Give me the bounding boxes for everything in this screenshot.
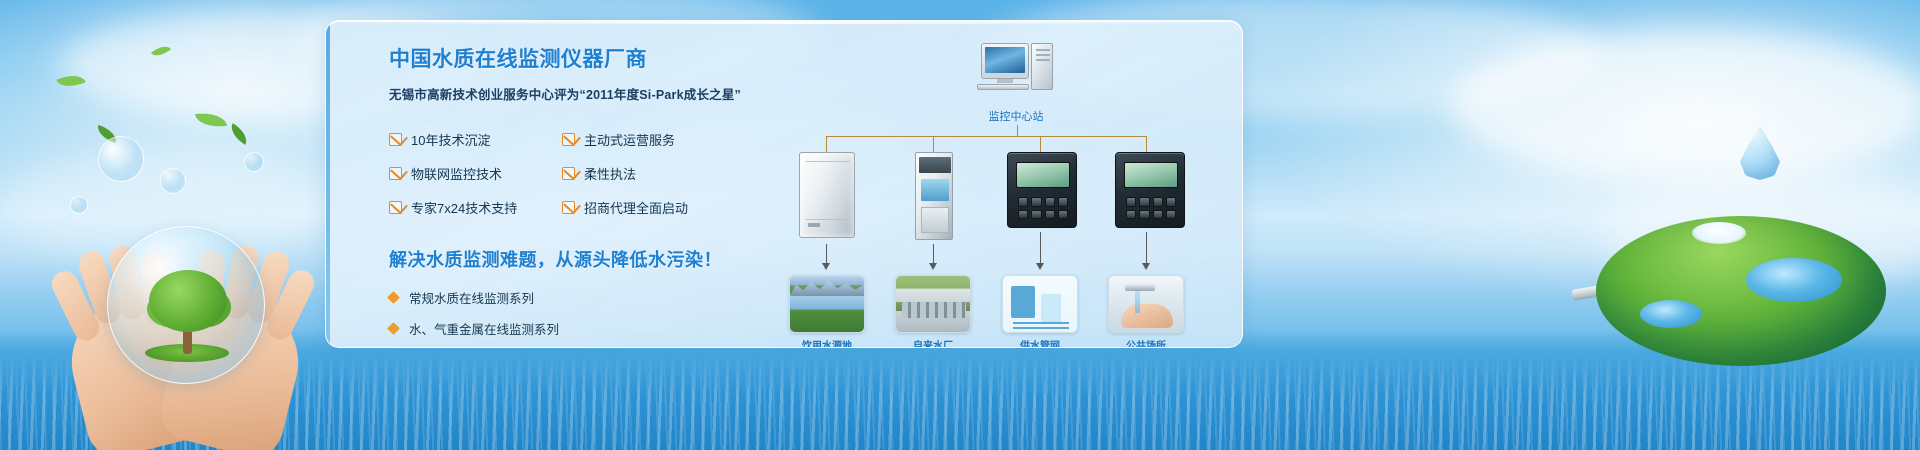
water-droplet-icon	[1740, 126, 1780, 180]
connector-drop	[1146, 136, 1147, 152]
earth-body	[1596, 216, 1886, 366]
page-subtitle: 无锡市高新技术创业服务中心评为“2011年度Si-Park成长之星”	[389, 84, 749, 103]
bubble-decor	[70, 196, 88, 214]
checklist-item-label: 柔性执法	[584, 164, 636, 183]
checklist-item[interactable]: 招商代理全面启动	[562, 198, 732, 217]
checkbox-icon	[562, 133, 575, 146]
monitoring-topology-diagram: 监控中心站	[781, 39, 1226, 339]
monitoring-center-computer	[981, 43, 1053, 91]
panel-left-edge	[326, 21, 330, 347]
cabinet-body	[799, 152, 855, 238]
checkbox-icon	[562, 167, 575, 180]
panel-text-column: 中国水质在线监测仪器厂商 无锡市高新技术创业服务中心评为“2011年度Si-Pa…	[389, 43, 749, 348]
product-series-list: 常规水质在线监测系列 水、气重金属在线监测系列 CEMS、TVOCs、PM2.5…	[389, 288, 749, 348]
section-title: 解决水质监测难题，从源头降低水污染！	[389, 246, 749, 272]
arrow-down-icon	[1142, 263, 1150, 270]
checklist-item[interactable]: 专家7x24技术支持	[389, 198, 554, 217]
checkbox-icon	[389, 167, 402, 180]
tree-icon	[149, 270, 227, 332]
checklist-item-label: 10年技术沉淀	[411, 130, 490, 149]
leaf-icon	[56, 69, 85, 92]
bubble-decor	[244, 152, 264, 172]
device-panel-controller-1	[1007, 152, 1077, 228]
checkbox-icon	[562, 201, 575, 214]
arrow-down-icon	[1036, 263, 1044, 270]
checklist-item-label: 主动式运营服务	[584, 130, 675, 149]
monitor-stand	[997, 79, 1013, 83]
controller-body	[1007, 152, 1077, 228]
leaf-icon	[226, 123, 251, 145]
controller-screen	[1124, 162, 1178, 188]
connector-stem	[1017, 125, 1018, 136]
bubble-decor	[160, 168, 186, 194]
checkbox-icon	[389, 133, 402, 146]
leaf-icon	[195, 110, 227, 130]
node-caption: 饮用水源地	[777, 337, 877, 348]
banner-panel: 中国水质在线监测仪器厂商 无锡市高新技术创业服务中心评为“2011年度Si-Pa…	[325, 20, 1243, 348]
pc-tower-icon	[1031, 43, 1053, 90]
device-cabinet-analyzer	[799, 152, 855, 238]
connector-drop	[826, 136, 827, 152]
node-caption: 供水管网	[990, 337, 1090, 348]
rack-window	[921, 179, 949, 201]
checkbox-icon	[389, 201, 402, 214]
green-earth-illustration	[1596, 216, 1886, 362]
node-photo-water-source[interactable]	[789, 275, 865, 333]
checklist-item[interactable]: 物联网监控技术	[389, 164, 554, 183]
node-photo-public-place[interactable]	[1108, 275, 1184, 333]
list-item[interactable]: 水、气重金属在线监测系列	[389, 319, 749, 338]
bubble-decor	[98, 136, 144, 182]
hands-holding-globe-illustration	[75, 220, 295, 450]
checklist-item-label: 物联网监控技术	[411, 164, 502, 183]
checklist-item[interactable]: 主动式运营服务	[562, 130, 732, 149]
monitoring-center-label: 监控中心站	[941, 108, 1091, 124]
list-item-label: 水、气重金属在线监测系列	[409, 319, 559, 338]
monitor-screen	[985, 47, 1025, 73]
connector-bus	[826, 136, 1146, 137]
device-rack-analyzer	[915, 152, 953, 240]
leaf-icon	[151, 41, 171, 60]
page-title: 中国水质在线监测仪器厂商	[389, 43, 749, 73]
arrow-down-icon	[822, 263, 830, 270]
rack-display	[919, 157, 951, 173]
controller-buttons	[1018, 197, 1068, 219]
arrow-shaft	[933, 244, 934, 264]
checklist-item-label: 专家7x24技术支持	[411, 198, 517, 217]
diamond-bullet-icon	[387, 291, 400, 304]
connector-drop	[1040, 136, 1041, 152]
controller-screen	[1016, 162, 1070, 188]
arrow-down-icon	[929, 263, 937, 270]
controller-buttons	[1126, 197, 1176, 219]
rack-drawer	[921, 207, 949, 233]
monitor-icon	[981, 43, 1029, 79]
node-caption: 自来水厂	[883, 337, 983, 348]
node-photo-pipe-network[interactable]	[1002, 275, 1078, 333]
cloud-decor	[1450, 30, 1920, 180]
arrow-shaft	[826, 244, 827, 264]
controller-body	[1115, 152, 1185, 228]
rack-body	[915, 152, 953, 240]
list-item-label: 常规水质在线监测系列	[409, 288, 534, 307]
node-photo-waterworks[interactable]	[895, 275, 971, 333]
keyboard-icon	[977, 84, 1029, 90]
list-item[interactable]: 常规水质在线监测系列	[389, 288, 749, 307]
node-caption: 公共场所	[1096, 337, 1196, 348]
checklist-item-label: 招商代理全面启动	[584, 198, 688, 217]
diamond-bullet-icon	[387, 322, 400, 335]
checklist-item[interactable]: 柔性执法	[562, 164, 732, 183]
checklist-item[interactable]: 10年技术沉淀	[389, 130, 554, 149]
device-panel-controller-2	[1115, 152, 1185, 228]
arrow-shaft	[1040, 232, 1041, 264]
arrow-shaft	[1146, 232, 1147, 264]
connector-drop	[933, 136, 934, 152]
feature-checklist: 10年技术沉淀 主动式运营服务 物联网监控技术 柔性执法 专家7x24技术支持 …	[389, 130, 749, 217]
